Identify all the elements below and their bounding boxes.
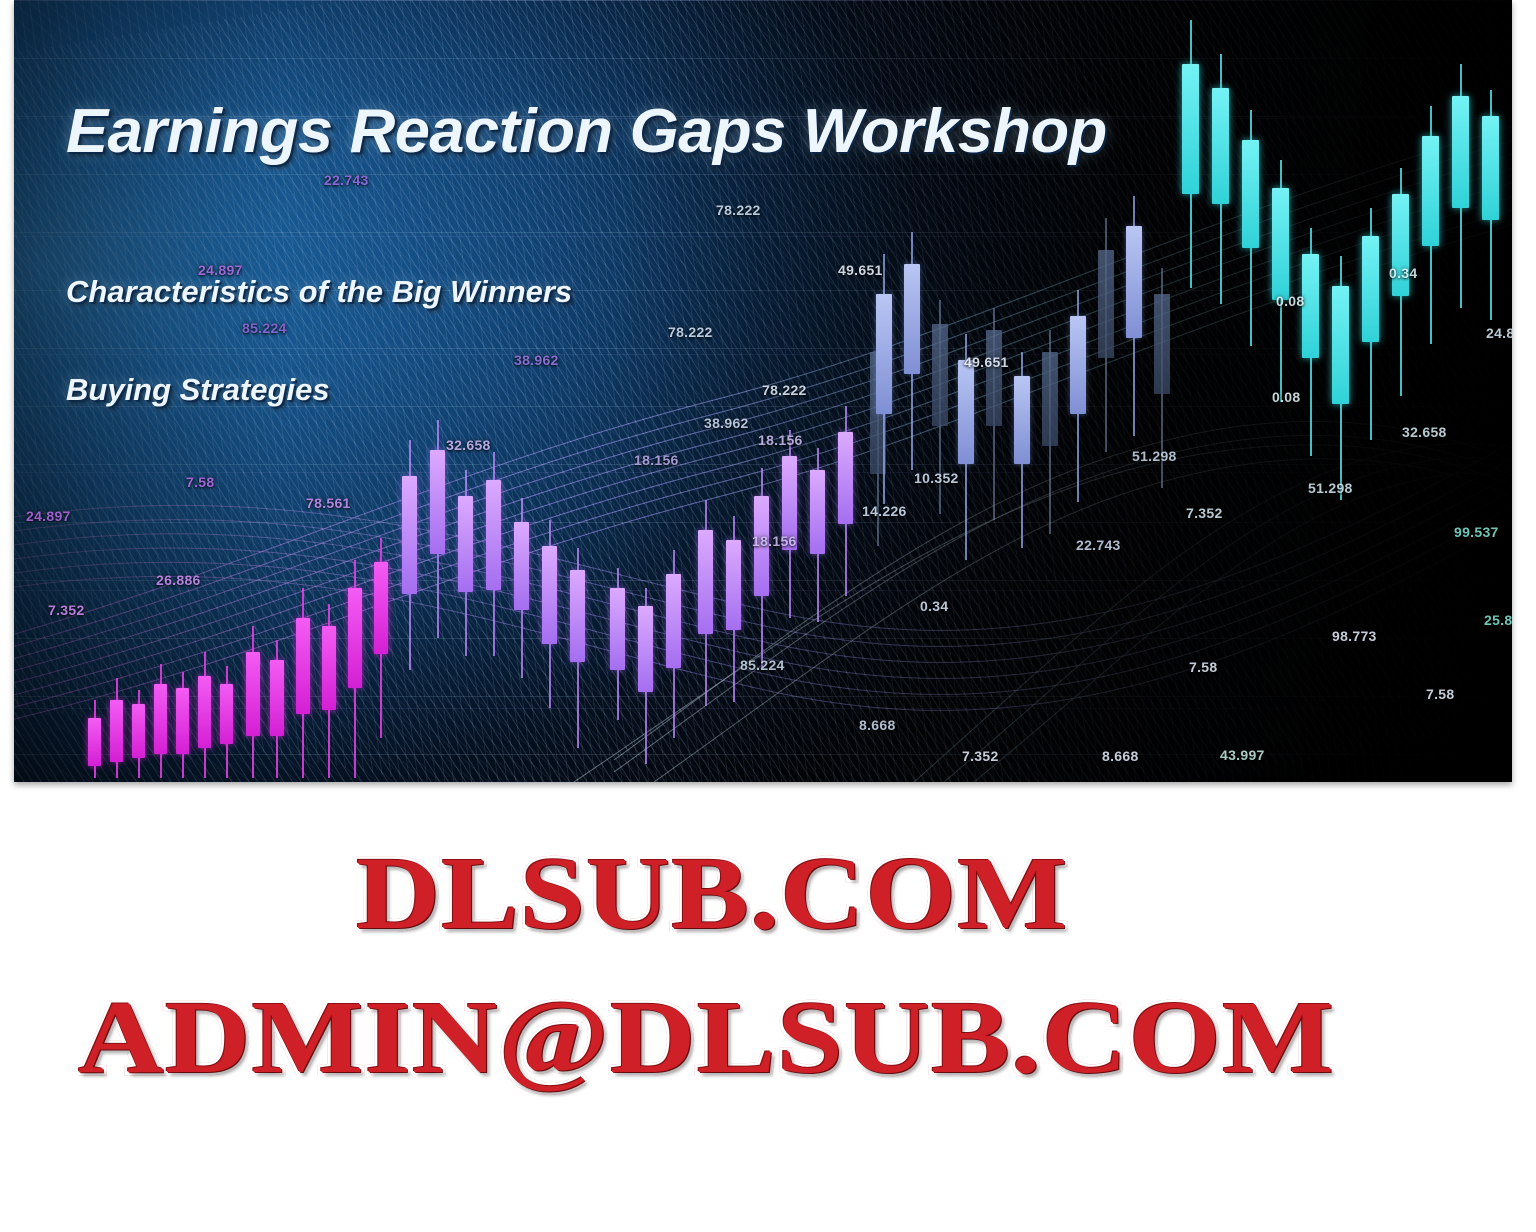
- candle-bar: [1042, 330, 1058, 534]
- candle-bar: [1182, 20, 1199, 288]
- candle-bar: [570, 548, 585, 748]
- candle-bar: [782, 430, 797, 618]
- candle-bar: [514, 498, 529, 678]
- candle-bar: [666, 550, 681, 738]
- banner-title: Earnings Reaction Gaps Workshop: [66, 96, 1107, 167]
- candle-bar: [198, 652, 211, 778]
- banner-subtitle-characteristics: Characteristics of the Big Winners: [66, 274, 572, 310]
- candle-bar: [88, 700, 101, 778]
- watermark-site-url: DLSUB.COM: [356, 834, 1068, 953]
- candle-bar: [296, 588, 310, 778]
- candle-bar: [1272, 160, 1289, 402]
- candle-bar: [904, 232, 920, 470]
- workshop-banner-image: 22.74378.22224.89749.6510.340.0885.22478…: [14, 0, 1512, 782]
- candle-bar: [638, 588, 653, 764]
- candle-bar: [246, 626, 260, 778]
- candle-bar: [1362, 208, 1379, 440]
- watermark-contact-email: ADMIN@DLSUB.COM: [78, 978, 1335, 1097]
- candle-bar: [1154, 268, 1170, 488]
- page-root: 22.74378.22224.89749.6510.340.0885.22478…: [0, 0, 1536, 1232]
- candle-bar: [220, 666, 233, 778]
- candle-bar: [1098, 218, 1114, 452]
- banner-subtitle-buying-strategies: Buying Strategies: [66, 372, 330, 408]
- candle-bar: [1242, 110, 1259, 346]
- candle-bar: [986, 308, 1002, 520]
- candle-bar: [838, 406, 853, 596]
- candle-bar: [1422, 106, 1439, 344]
- candle-bar: [932, 300, 948, 514]
- candle-bar: [876, 254, 892, 504]
- candle-bar: [610, 568, 625, 720]
- candle-bar: [270, 640, 284, 778]
- candle-bar: [1392, 168, 1409, 396]
- candle-bar: [542, 520, 557, 708]
- candle-bar: [110, 678, 123, 778]
- candle-bar: [1332, 256, 1349, 500]
- candle-bar: [176, 672, 189, 778]
- candle-bar: [958, 334, 974, 560]
- candle-bar: [348, 560, 362, 778]
- candle-bar: [1070, 290, 1086, 502]
- candle-bar: [374, 538, 388, 738]
- candle-bar: [402, 440, 417, 670]
- candle-bar: [754, 468, 769, 668]
- candle-bar: [726, 516, 741, 702]
- candle-bar: [430, 420, 445, 638]
- candle-bar: [810, 448, 825, 622]
- candle-bar: [1302, 228, 1319, 456]
- candle-bar: [486, 452, 501, 656]
- candle-bar: [1126, 196, 1142, 436]
- candle-bar: [1212, 54, 1229, 304]
- candle-bar: [1452, 64, 1469, 308]
- candle-bar: [1014, 352, 1030, 548]
- candle-bar: [154, 664, 167, 778]
- candle-bar: [458, 470, 473, 656]
- candle-bar: [1482, 90, 1499, 320]
- candle-bar: [132, 690, 145, 778]
- candle-bar: [322, 604, 336, 778]
- candle-bar: [698, 500, 713, 706]
